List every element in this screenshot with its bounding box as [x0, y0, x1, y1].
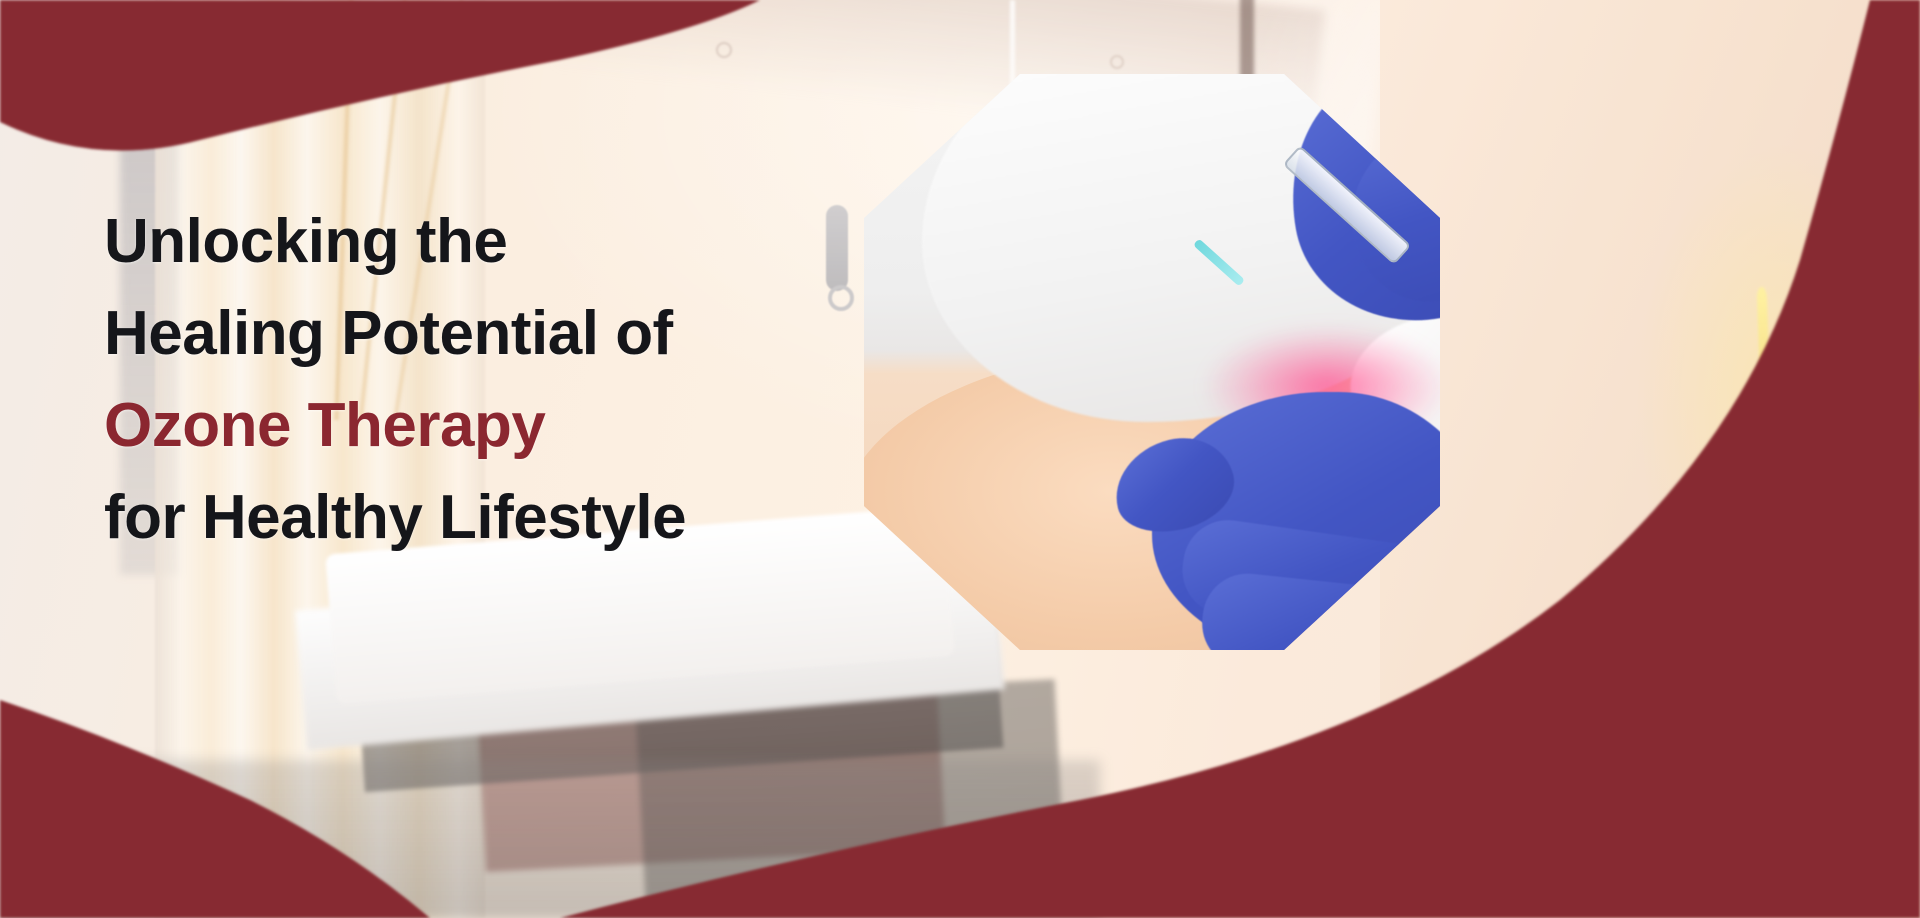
- ozone-therapy-banner: Unlocking the Healing Potential of Ozone…: [0, 0, 1920, 918]
- banner-headline: Unlocking the Healing Potential of Ozone…: [104, 196, 864, 564]
- ozone-injection-hex-photo: [852, 62, 1452, 662]
- ceiling-fixture-icon: [1110, 55, 1124, 69]
- headline-line-1: Unlocking the: [104, 196, 864, 288]
- ceiling-fixture-icon: [716, 42, 732, 58]
- headline-line-2: Healing Potential of: [104, 288, 864, 380]
- floor: [0, 760, 1100, 918]
- headline-line-4: for Healthy Lifestyle: [104, 472, 864, 564]
- headline-line-3-accent: Ozone Therapy: [104, 380, 864, 472]
